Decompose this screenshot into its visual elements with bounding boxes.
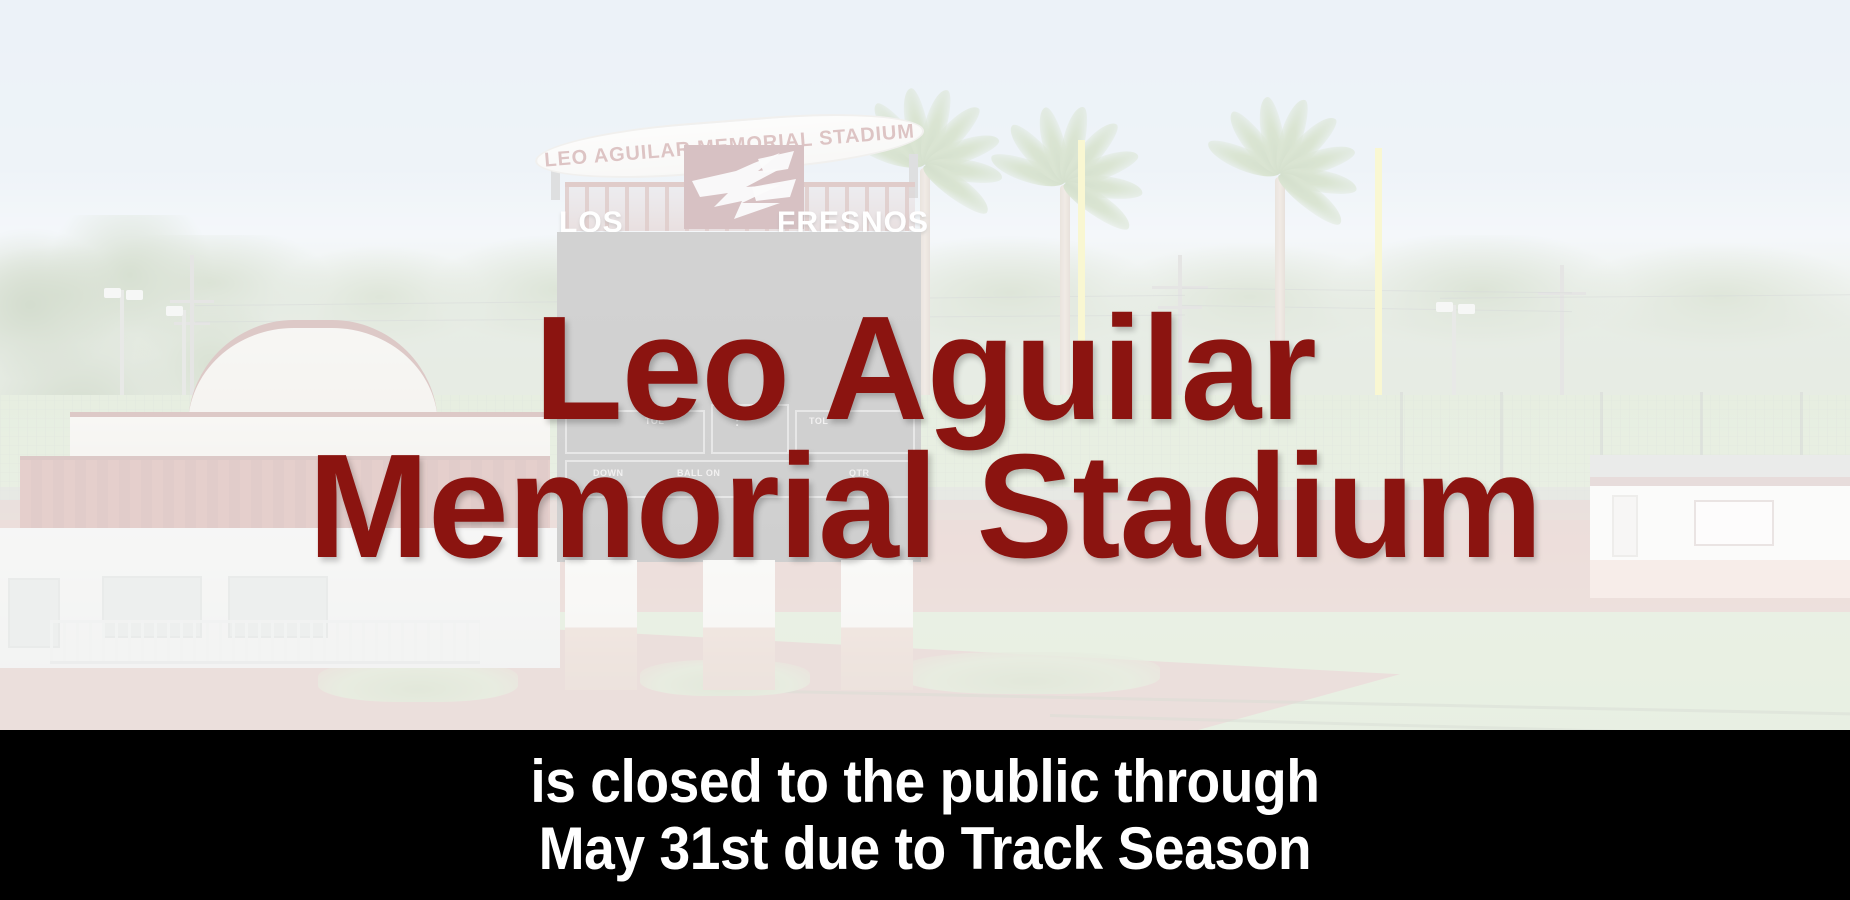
notice-bar: is closed to the public through May 31st… bbox=[0, 730, 1850, 900]
scoreboard-support-legs bbox=[557, 560, 921, 690]
pressbox-sign bbox=[1694, 500, 1774, 546]
scoreboard-label-qtr: QTR bbox=[849, 468, 870, 478]
stadium-lamp bbox=[1436, 302, 1453, 312]
scoreboard-leg bbox=[703, 560, 775, 690]
pressbox-base bbox=[1590, 560, 1850, 598]
pressbox-accent-band bbox=[1590, 477, 1850, 486]
left-fieldhouse-building bbox=[0, 320, 550, 650]
utility-pole bbox=[1560, 265, 1564, 415]
scoreboard-leg bbox=[565, 560, 637, 690]
scoreboard-label-tol-left: TOL bbox=[645, 416, 664, 426]
scoreboard-body: TOL TOL : DOWN BALL ON QTR bbox=[557, 232, 921, 562]
utility-crossarm bbox=[170, 300, 214, 303]
pressbox-door bbox=[1612, 495, 1638, 557]
stadium-lamp bbox=[126, 290, 143, 300]
stadium-lamp bbox=[104, 288, 121, 298]
notice-line-2: May 31st due to Track Season bbox=[539, 815, 1312, 882]
stadium-lamp bbox=[1458, 304, 1475, 314]
stadium-lamp bbox=[166, 306, 183, 316]
scoreboard-panel-clock bbox=[711, 404, 789, 454]
right-pressbox-building bbox=[1590, 455, 1850, 630]
building-parapet bbox=[70, 412, 550, 462]
stadium-closure-banner: LEO AGUILAR MEMORIAL STADIUM LOS FRESNOS bbox=[0, 0, 1850, 900]
utility-crossarm bbox=[1158, 306, 1202, 309]
scoreboard-label-ball-on: BALL ON bbox=[677, 468, 720, 478]
scoreboard: LEO AGUILAR MEMORIAL STADIUM LOS FRESNOS bbox=[545, 120, 930, 680]
building-railing bbox=[50, 620, 480, 664]
building-metal-roof bbox=[20, 456, 550, 532]
scoreboard-panel-home bbox=[565, 410, 705, 454]
pressbox-roof bbox=[1590, 455, 1850, 477]
scoreboard-leg bbox=[841, 560, 913, 690]
shrub bbox=[900, 652, 1160, 694]
building-arched-roof bbox=[188, 320, 438, 426]
fence-post bbox=[1400, 392, 1403, 500]
scoreboard-label-tol-right: TOL bbox=[809, 416, 828, 426]
scoreboard-label-down: DOWN bbox=[593, 468, 624, 478]
fence-post bbox=[1500, 392, 1503, 500]
stadium-photo: LEO AGUILAR MEMORIAL STADIUM LOS FRESNOS bbox=[0, 0, 1850, 730]
scoreboard-clock-separator: : bbox=[735, 414, 739, 429]
notice-line-1: is closed to the public through bbox=[530, 748, 1319, 815]
scoreboard-panel-downs bbox=[565, 460, 915, 498]
